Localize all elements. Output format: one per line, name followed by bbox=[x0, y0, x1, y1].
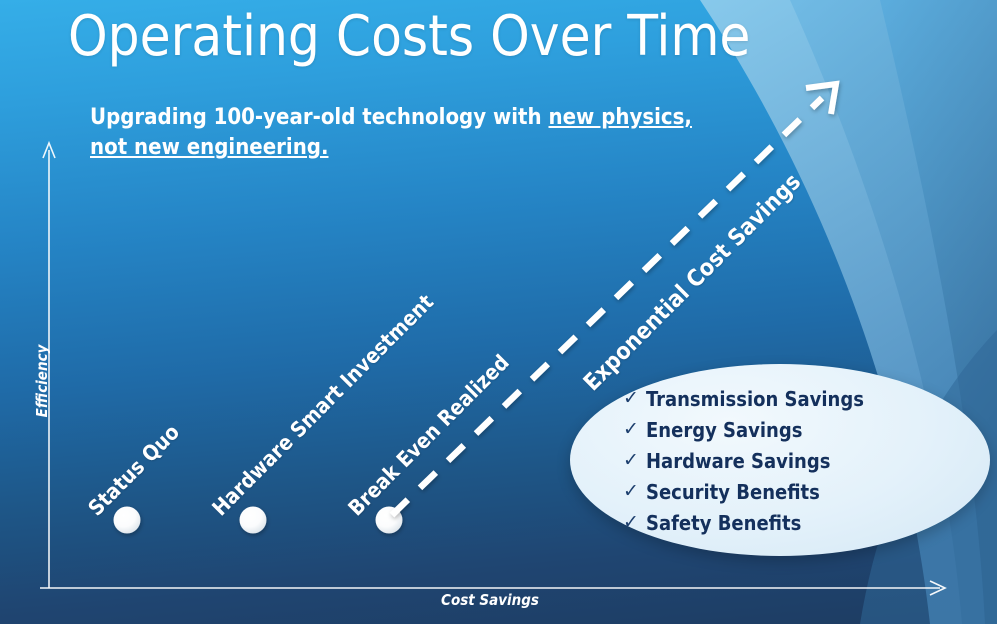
list-item: ✓ Security Benefits bbox=[616, 476, 976, 507]
point-label-status-quo: Status Quo bbox=[84, 420, 185, 521]
list-item: ✓ Hardware Savings bbox=[616, 445, 976, 476]
list-item: ✓ Energy Savings bbox=[616, 414, 976, 445]
slide-title: Operating Costs Over Time bbox=[68, 4, 750, 69]
check-icon: ✓ bbox=[616, 389, 646, 408]
benefit-label: Safety Benefits bbox=[646, 511, 801, 535]
check-icon: ✓ bbox=[616, 420, 646, 439]
data-point-marker bbox=[240, 507, 267, 534]
annotation-exponential-cost-savings: Exponential Cost Savings bbox=[579, 169, 806, 396]
check-icon: ✓ bbox=[616, 451, 646, 470]
data-point-marker bbox=[376, 507, 403, 534]
point-label-hardware-smart-investment: Hardware Smart Investment bbox=[208, 290, 439, 521]
list-item: ✓ Transmission Savings bbox=[616, 383, 976, 414]
subtitle-underline-1: new physics, bbox=[549, 105, 692, 130]
data-point-marker bbox=[114, 507, 141, 534]
list-item: ✓ Safety Benefits bbox=[616, 507, 976, 538]
y-axis-label: Efficiency bbox=[33, 326, 51, 436]
trend-arrowhead-icon bbox=[806, 84, 836, 114]
subtitle-underline-2: not new engineering. bbox=[90, 135, 328, 160]
x-axis-label: Cost Savings bbox=[390, 591, 590, 609]
slide-canvas: Operating Costs Over Time Upgrading 100-… bbox=[0, 0, 997, 624]
benefit-label: Hardware Savings bbox=[646, 449, 830, 473]
benefit-label: Security Benefits bbox=[646, 480, 820, 504]
benefits-callout: ✓ Transmission Savings ✓ Energy Savings … bbox=[570, 364, 990, 556]
slide-subtitle: Upgrading 100-year-old technology with n… bbox=[90, 103, 790, 164]
check-icon: ✓ bbox=[616, 482, 646, 501]
subtitle-plain: Upgrading 100-year-old technology with bbox=[90, 105, 549, 130]
benefit-label: Transmission Savings bbox=[646, 387, 864, 411]
check-icon: ✓ bbox=[616, 513, 646, 532]
benefit-label: Energy Savings bbox=[646, 418, 802, 442]
benefits-list: ✓ Transmission Savings ✓ Energy Savings … bbox=[616, 383, 976, 538]
